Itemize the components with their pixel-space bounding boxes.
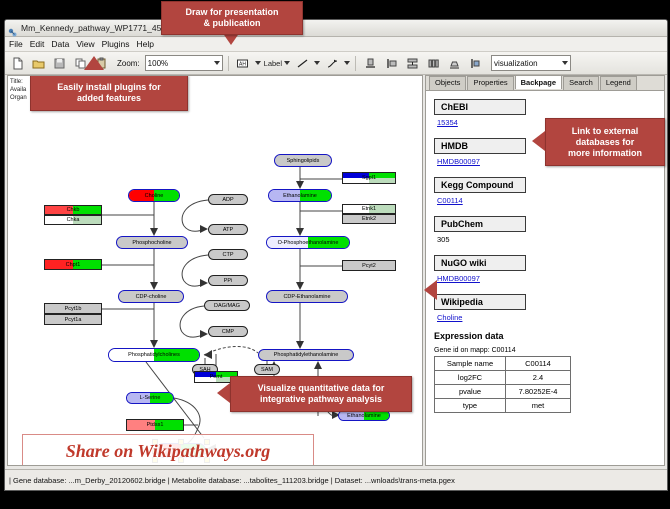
share-banner-text: Share on Wikipathways.org — [66, 441, 271, 462]
node-label: Etnk1 — [362, 206, 376, 212]
screen: Mm_Kennedy_pathway_WP1771_45176.gpml Fil… — [0, 0, 670, 509]
node-label: Choline — [145, 193, 164, 199]
node-chkb[interactable]: Chkb — [44, 205, 102, 215]
visualization-value: visualization — [494, 59, 538, 68]
node-phosphatidylcholines[interactable]: Phosphatidylcholines — [108, 348, 200, 362]
node-chka[interactable]: Chka — [44, 215, 102, 225]
new-file-icon[interactable] — [8, 54, 26, 72]
chevron-down-icon[interactable] — [344, 61, 350, 65]
node-ethanolamine-top[interactable]: Ethanolamine — [268, 189, 332, 202]
db-title-kegg: Kegg Compound — [434, 177, 526, 193]
node-label: Sgpl1 — [362, 175, 376, 181]
tab-legend[interactable]: Legend — [600, 76, 637, 90]
node-dag-mag[interactable]: DAG/MAG — [204, 300, 250, 311]
callout-expression-arrow — [424, 280, 437, 300]
db-link-wikipedia[interactable]: Choline — [437, 313, 656, 322]
node-label: Pcyt1a — [65, 317, 82, 323]
db-title-wikipedia: Wikipedia — [434, 294, 526, 310]
share-banner: Share on Wikipathways.org — [22, 434, 314, 466]
gene-id-line: Gene id on mapp: C00114 — [434, 347, 656, 354]
node-label: Pcyt1b — [65, 306, 82, 312]
node-cdp-ethanolamine[interactable]: CDP-Ethanolamine — [266, 290, 348, 303]
align-bottom-icon[interactable] — [361, 54, 379, 72]
node-label: Chkb — [67, 207, 80, 213]
chevron-down-icon — [562, 61, 568, 65]
callout-visualize: Visualize quantitative data for integrat… — [230, 376, 412, 412]
node-l-serine-left[interactable]: L-Serine — [126, 392, 174, 404]
cell-label: log2FC — [435, 371, 506, 385]
node-atp[interactable]: ATP — [208, 224, 248, 235]
align-left-icon[interactable] — [382, 54, 400, 72]
cell-label: Sample name — [435, 357, 506, 371]
callout-plugins: Easily install plugins for added feature… — [30, 75, 188, 111]
pathvisio-window: Mm_Kennedy_pathway_WP1771_45176.gpml Fil… — [4, 19, 668, 491]
node-chpt1[interactable]: Chpt1 — [44, 259, 102, 270]
node-adp[interactable]: ADP — [208, 194, 248, 205]
node-o-phosphoethanolamine[interactable]: O-Phosphoethanolamine — [266, 236, 350, 249]
menu-data[interactable]: Data — [51, 39, 69, 49]
node-phosphatidylethanolamine[interactable]: Phosphatidylethanolamine — [258, 349, 354, 361]
chevron-down-icon[interactable] — [314, 61, 320, 65]
node-etnk1[interactable]: Etnk1 — [342, 204, 396, 214]
svg-text:AH: AH — [239, 61, 246, 67]
db-value-pubchem: 305 — [437, 235, 656, 244]
node-label: Chpt1 — [66, 262, 81, 268]
chevron-down-icon[interactable] — [255, 61, 261, 65]
node-ctp[interactable]: CTP — [208, 249, 248, 260]
tool-bar: Zoom: 100% AH Label — [5, 52, 667, 75]
callout-draw-line2: & publication — [204, 18, 261, 29]
node-ptdss1[interactable]: Ptdss1 — [126, 419, 184, 431]
node-ppi[interactable]: PPi — [208, 275, 248, 286]
node-label: ATP — [223, 227, 233, 233]
interaction-icon[interactable] — [323, 54, 341, 72]
side-panel-tabs: Objects Properties Backpage Search Legen… — [426, 76, 664, 91]
node-label: Pcyt2 — [362, 263, 376, 269]
menu-view[interactable]: View — [76, 39, 94, 49]
zoom-label: Zoom: — [117, 59, 140, 68]
tab-search[interactable]: Search — [563, 76, 599, 90]
expression-table: Sample name C00114 log2FC 2.4 pvalue 7.8… — [434, 356, 571, 413]
db-title-hmdb: HMDB — [434, 138, 526, 154]
node-cmp[interactable]: CMP — [208, 326, 248, 337]
table-row: type met — [435, 399, 571, 413]
label-dropdown-text: Label — [264, 59, 282, 68]
pathway-canvas[interactable]: Title: Availa Organ — [7, 75, 423, 466]
same-height-icon[interactable] — [466, 54, 484, 72]
callout-visualize-line1: Visualize quantitative data for — [258, 383, 385, 394]
table-row: Sample name C00114 — [435, 357, 571, 371]
node-label: Phosphocholine — [132, 240, 171, 246]
label-dropdown[interactable]: Label — [264, 59, 290, 68]
stack-vertical-icon[interactable] — [403, 54, 421, 72]
callout-visualize-arrow — [217, 383, 230, 403]
node-pcyt1b[interactable]: Pcyt1b — [44, 303, 102, 314]
callout-plugins-arrow — [84, 56, 104, 70]
db-title-chebi: ChEBI — [434, 99, 526, 115]
tab-backpage[interactable]: Backpage — [515, 75, 562, 89]
datanode-icon[interactable]: AH — [234, 54, 252, 72]
callout-draw: Draw for presentation & publication — [161, 1, 303, 35]
callout-links-arrow — [532, 131, 545, 151]
expression-data-header: Expression data — [434, 331, 656, 341]
save-file-icon[interactable] — [50, 54, 68, 72]
chevron-down-icon — [284, 61, 290, 65]
node-label: DAG/MAG — [214, 303, 240, 309]
callout-links: Link to external databases for more info… — [545, 118, 665, 166]
node-label: CTP — [223, 252, 234, 258]
node-label: O-Phosphoethanolamine — [278, 240, 339, 246]
db-link-kegg[interactable]: C00114 — [437, 196, 656, 205]
callout-links-line1: Link to external — [572, 126, 639, 137]
menu-edit[interactable]: Edit — [30, 39, 45, 49]
node-sam[interactable]: SAM — [254, 364, 280, 375]
node-etnk2[interactable]: Etnk2 — [342, 214, 396, 224]
menu-help[interactable]: Help — [137, 39, 154, 49]
db-title-pubchem: PubChem — [434, 216, 526, 232]
callout-plugins-line2: added features — [77, 93, 141, 104]
node-label: ADP — [222, 197, 233, 203]
node-label: Etnk2 — [362, 216, 376, 222]
chevron-down-icon — [214, 61, 220, 65]
callout-links-line3: more information — [568, 148, 642, 159]
node-label: Phosphatidylcholines — [128, 352, 180, 358]
menu-bar: File Edit Data View Plugins Help — [5, 37, 667, 52]
callout-visualize-line2: integrative pathway analysis — [260, 394, 382, 405]
toolbar-separator — [355, 56, 356, 71]
cell-value: met — [506, 399, 571, 413]
node-pcyt1a[interactable]: Pcyt1a — [44, 314, 102, 325]
node-pcyt2[interactable]: Pcyt2 — [342, 260, 396, 271]
tab-objects[interactable]: Objects — [429, 76, 466, 90]
node-cdp-choline[interactable]: CDP-choline — [118, 290, 184, 303]
title-bar: Mm_Kennedy_pathway_WP1771_45176.gpml — [5, 20, 667, 37]
callout-links-line2: databases for — [576, 137, 635, 148]
table-row: pvalue 7.80252E-4 — [435, 385, 571, 399]
cell-value: 2.4 — [506, 371, 571, 385]
zoom-value: 100% — [148, 59, 168, 68]
db-link-nugo[interactable]: HMDB00097 — [437, 274, 656, 283]
node-label: Ptdss1 — [147, 422, 164, 428]
node-label: Phosphatidylethanolamine — [274, 352, 339, 358]
status-bar: | Gene database: ...m_Derby_20120602.bri… — [5, 469, 667, 490]
node-label: CDP-Ethanolamine — [283, 294, 330, 300]
node-label: L-Serine — [140, 395, 161, 401]
node-label: Sphingolipids — [287, 158, 320, 164]
node-label: CDP-choline — [136, 294, 167, 300]
same-width-icon[interactable] — [445, 54, 463, 72]
distribute-icon[interactable] — [424, 54, 442, 72]
node-label: Pemt — [210, 374, 223, 380]
menu-plugins[interactable]: Plugins — [102, 39, 130, 49]
node-label: CMP — [222, 329, 234, 335]
node-label: PPi — [224, 278, 233, 284]
status-text: | Gene database: ...m_Derby_20120602.bri… — [9, 476, 455, 485]
node-label: Chka — [67, 217, 80, 223]
tab-properties[interactable]: Properties — [467, 76, 513, 90]
node-label: Ethanolamine — [283, 193, 317, 199]
pathvisio-icon — [8, 24, 17, 33]
toolbar-separator — [228, 56, 229, 71]
table-row: log2FC 2.4 — [435, 371, 571, 385]
node-choline-top[interactable]: Choline — [128, 189, 180, 202]
cell-value: 7.80252E-4 — [506, 385, 571, 399]
line-icon[interactable] — [293, 54, 311, 72]
node-label: Ethanolamine — [347, 413, 381, 419]
menu-file[interactable]: File — [9, 39, 23, 49]
node-sgpl1[interactable]: Sgpl1 — [342, 172, 396, 184]
open-file-icon[interactable] — [29, 54, 47, 72]
callout-draw-line1: Draw for presentation — [185, 7, 278, 18]
zoom-combo[interactable]: 100% — [145, 55, 223, 71]
node-label: SAM — [261, 367, 273, 373]
node-label: SAH — [199, 367, 210, 373]
cell-label: type — [435, 399, 506, 413]
db-title-nugo: NuGO wiki — [434, 255, 526, 271]
node-sphingolipids[interactable]: Sphingolipids — [274, 154, 332, 167]
node-phosphocholine[interactable]: Phosphocholine — [116, 236, 188, 249]
cell-label: pvalue — [435, 385, 506, 399]
visualization-combo[interactable]: visualization — [491, 55, 571, 71]
cell-value: C00114 — [506, 357, 571, 371]
callout-plugins-line1: Easily install plugins for — [57, 82, 161, 93]
